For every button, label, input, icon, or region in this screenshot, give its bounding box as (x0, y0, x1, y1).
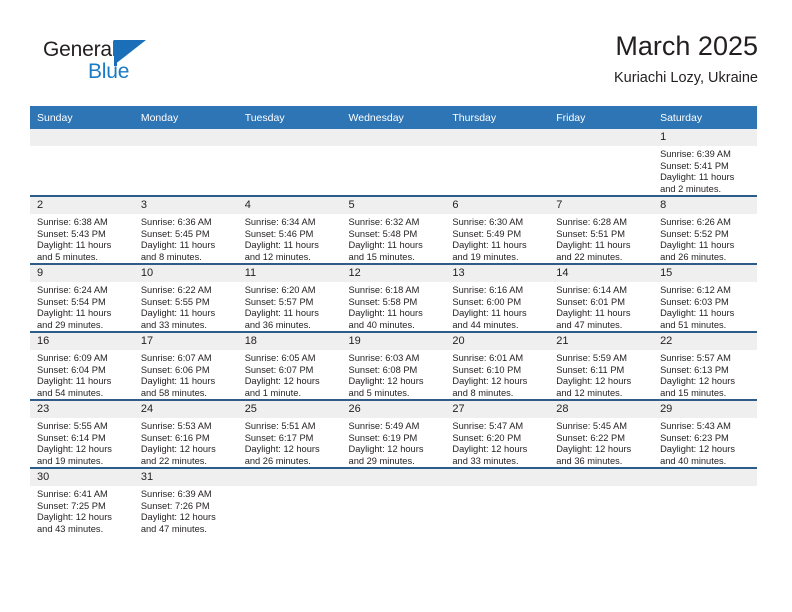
daylight-text: Daylight: 12 hours and 43 minutes. (37, 512, 129, 535)
day-details: Sunrise: 6:24 AMSunset: 5:54 PMDaylight:… (30, 282, 134, 331)
calendar-day-cell[interactable]: 8Sunrise: 6:26 AMSunset: 5:52 PMDaylight… (653, 196, 757, 264)
day-number: 28 (549, 401, 653, 418)
calendar-cell-empty (342, 129, 446, 196)
calendar-body: 1Sunrise: 6:39 AMSunset: 5:41 PMDaylight… (30, 129, 757, 535)
day-number (134, 129, 238, 146)
day-details: Sunrise: 6:05 AMSunset: 6:07 PMDaylight:… (238, 350, 342, 399)
day-cell-inner (549, 129, 653, 195)
calendar-day-cell[interactable]: 14Sunrise: 6:14 AMSunset: 6:01 PMDayligh… (549, 264, 653, 332)
sunset-text: Sunset: 6:07 PM (245, 365, 337, 377)
calendar-day-cell[interactable]: 2Sunrise: 6:38 AMSunset: 5:43 PMDaylight… (30, 196, 134, 264)
calendar-cell-empty (342, 468, 446, 535)
sunset-text: Sunset: 5:57 PM (245, 297, 337, 309)
calendar-cell-empty (549, 468, 653, 535)
day-number: 18 (238, 333, 342, 350)
page-header: General Blue March 2025 Kuriachi Lozy, U… (0, 0, 792, 100)
day-cell-inner: 31Sunrise: 6:39 AMSunset: 7:26 PMDayligh… (134, 469, 238, 535)
sunset-text: Sunset: 5:58 PM (349, 297, 441, 309)
day-number: 26 (342, 401, 446, 418)
day-number (549, 469, 653, 486)
calendar-day-cell[interactable]: 5Sunrise: 6:32 AMSunset: 5:48 PMDaylight… (342, 196, 446, 264)
day-details: Sunrise: 6:26 AMSunset: 5:52 PMDaylight:… (653, 214, 757, 263)
day-details: Sunrise: 6:28 AMSunset: 5:51 PMDaylight:… (549, 214, 653, 263)
day-cell-inner (342, 129, 446, 195)
sunrise-text: Sunrise: 5:55 AM (37, 421, 129, 433)
daylight-text: Daylight: 11 hours and 5 minutes. (37, 240, 129, 263)
title-block: March 2025 Kuriachi Lozy, Ukraine (614, 30, 758, 88)
sunrise-text: Sunrise: 6:26 AM (660, 217, 752, 229)
day-number (445, 129, 549, 146)
daylight-text: Daylight: 11 hours and 15 minutes. (349, 240, 441, 263)
sunset-text: Sunset: 6:22 PM (556, 433, 648, 445)
daylight-text: Daylight: 11 hours and 40 minutes. (349, 308, 441, 331)
day-details: Sunrise: 5:47 AMSunset: 6:20 PMDaylight:… (445, 418, 549, 467)
day-details: Sunrise: 6:18 AMSunset: 5:58 PMDaylight:… (342, 282, 446, 331)
daylight-text: Daylight: 12 hours and 15 minutes. (660, 376, 752, 399)
day-number: 5 (342, 197, 446, 214)
day-details: Sunrise: 6:20 AMSunset: 5:57 PMDaylight:… (238, 282, 342, 331)
daylight-text: Daylight: 11 hours and 58 minutes. (141, 376, 233, 399)
calendar-day-cell[interactable]: 31Sunrise: 6:39 AMSunset: 7:26 PMDayligh… (134, 468, 238, 535)
day-number (238, 469, 342, 486)
calendar-day-cell[interactable]: 16Sunrise: 6:09 AMSunset: 6:04 PMDayligh… (30, 332, 134, 400)
day-number: 23 (30, 401, 134, 418)
day-cell-inner: 2Sunrise: 6:38 AMSunset: 5:43 PMDaylight… (30, 197, 134, 263)
day-cell-inner: 4Sunrise: 6:34 AMSunset: 5:46 PMDaylight… (238, 197, 342, 263)
calendar-table: Sunday Monday Tuesday Wednesday Thursday… (30, 106, 757, 535)
calendar-cell-empty (653, 468, 757, 535)
day-details: Sunrise: 5:49 AMSunset: 6:19 PMDaylight:… (342, 418, 446, 467)
sunrise-text: Sunrise: 6:41 AM (37, 489, 129, 501)
day-details: Sunrise: 5:55 AMSunset: 6:14 PMDaylight:… (30, 418, 134, 467)
day-details: Sunrise: 6:07 AMSunset: 6:06 PMDaylight:… (134, 350, 238, 399)
day-details: Sunrise: 6:34 AMSunset: 5:46 PMDaylight:… (238, 214, 342, 263)
day-cell-inner: 29Sunrise: 5:43 AMSunset: 6:23 PMDayligh… (653, 401, 757, 467)
calendar-week-row: 30Sunrise: 6:41 AMSunset: 7:25 PMDayligh… (30, 468, 757, 535)
daylight-text: Daylight: 11 hours and 2 minutes. (660, 172, 752, 195)
calendar-week-row: 23Sunrise: 5:55 AMSunset: 6:14 PMDayligh… (30, 400, 757, 468)
day-cell-inner: 12Sunrise: 6:18 AMSunset: 5:58 PMDayligh… (342, 265, 446, 331)
day-cell-inner: 23Sunrise: 5:55 AMSunset: 6:14 PMDayligh… (30, 401, 134, 467)
sunrise-text: Sunrise: 6:14 AM (556, 285, 648, 297)
sunrise-text: Sunrise: 6:39 AM (660, 149, 752, 161)
sunset-text: Sunset: 5:48 PM (349, 229, 441, 241)
sunset-text: Sunset: 7:25 PM (37, 501, 129, 513)
day-cell-inner: 11Sunrise: 6:20 AMSunset: 5:57 PMDayligh… (238, 265, 342, 331)
calendar-week-row: 2Sunrise: 6:38 AMSunset: 5:43 PMDaylight… (30, 196, 757, 264)
day-cell-inner (445, 469, 549, 535)
day-cell-inner (342, 469, 446, 535)
day-cell-inner: 13Sunrise: 6:16 AMSunset: 6:00 PMDayligh… (445, 265, 549, 331)
sunset-text: Sunset: 6:10 PM (452, 365, 544, 377)
daylight-text: Daylight: 12 hours and 36 minutes. (556, 444, 648, 467)
sunset-text: Sunset: 6:20 PM (452, 433, 544, 445)
sunset-text: Sunset: 5:45 PM (141, 229, 233, 241)
day-cell-inner: 30Sunrise: 6:41 AMSunset: 7:25 PMDayligh… (30, 469, 134, 535)
calendar-day-cell[interactable]: 20Sunrise: 6:01 AMSunset: 6:10 PMDayligh… (445, 332, 549, 400)
day-cell-inner: 25Sunrise: 5:51 AMSunset: 6:17 PMDayligh… (238, 401, 342, 467)
page-subtitle: Kuriachi Lozy, Ukraine (614, 68, 758, 88)
sunset-text: Sunset: 6:03 PM (660, 297, 752, 309)
sunrise-text: Sunrise: 6:24 AM (37, 285, 129, 297)
calendar-week-row: 16Sunrise: 6:09 AMSunset: 6:04 PMDayligh… (30, 332, 757, 400)
calendar-day-cell[interactable]: 19Sunrise: 6:03 AMSunset: 6:08 PMDayligh… (342, 332, 446, 400)
day-number (30, 129, 134, 146)
day-number: 22 (653, 333, 757, 350)
day-cell-inner: 27Sunrise: 5:47 AMSunset: 6:20 PMDayligh… (445, 401, 549, 467)
day-number: 19 (342, 333, 446, 350)
sunrise-text: Sunrise: 6:36 AM (141, 217, 233, 229)
day-number: 29 (653, 401, 757, 418)
sunrise-text: Sunrise: 5:45 AM (556, 421, 648, 433)
calendar-day-cell[interactable]: 7Sunrise: 6:28 AMSunset: 5:51 PMDaylight… (549, 196, 653, 264)
calendar-cell-empty (445, 129, 549, 196)
day-number: 10 (134, 265, 238, 282)
day-cell-inner: 15Sunrise: 6:12 AMSunset: 6:03 PMDayligh… (653, 265, 757, 331)
daylight-text: Daylight: 12 hours and 22 minutes. (141, 444, 233, 467)
daylight-text: Daylight: 11 hours and 19 minutes. (452, 240, 544, 263)
day-cell-inner: 9Sunrise: 6:24 AMSunset: 5:54 PMDaylight… (30, 265, 134, 331)
calendar-day-cell[interactable]: 11Sunrise: 6:20 AMSunset: 5:57 PMDayligh… (238, 264, 342, 332)
day-cell-inner (549, 469, 653, 535)
sunrise-text: Sunrise: 5:47 AM (452, 421, 544, 433)
calendar-week-row: 1Sunrise: 6:39 AMSunset: 5:41 PMDaylight… (30, 129, 757, 196)
sunset-text: Sunset: 5:41 PM (660, 161, 752, 173)
day-number: 1 (653, 129, 757, 146)
calendar-day-cell[interactable]: 17Sunrise: 6:07 AMSunset: 6:06 PMDayligh… (134, 332, 238, 400)
day-number: 14 (549, 265, 653, 282)
general-blue-logo: General Blue (30, 36, 180, 92)
day-cell-inner: 26Sunrise: 5:49 AMSunset: 6:19 PMDayligh… (342, 401, 446, 467)
calendar-week-row: 9Sunrise: 6:24 AMSunset: 5:54 PMDaylight… (30, 264, 757, 332)
day-details: Sunrise: 6:22 AMSunset: 5:55 PMDaylight:… (134, 282, 238, 331)
calendar-cell-empty (549, 129, 653, 196)
sunset-text: Sunset: 5:52 PM (660, 229, 752, 241)
calendar-day-cell[interactable]: 29Sunrise: 5:43 AMSunset: 6:23 PMDayligh… (653, 400, 757, 468)
sunset-text: Sunset: 6:14 PM (37, 433, 129, 445)
sunrise-text: Sunrise: 6:39 AM (141, 489, 233, 501)
daylight-text: Daylight: 11 hours and 54 minutes. (37, 376, 129, 399)
day-number: 6 (445, 197, 549, 214)
calendar-day-cell[interactable]: 22Sunrise: 5:57 AMSunset: 6:13 PMDayligh… (653, 332, 757, 400)
weekday-header-sunday: Sunday (30, 106, 134, 129)
sunrise-text: Sunrise: 6:34 AM (245, 217, 337, 229)
daylight-text: Daylight: 12 hours and 12 minutes. (556, 376, 648, 399)
weekday-header-tuesday: Tuesday (238, 106, 342, 129)
sunset-text: Sunset: 6:01 PM (556, 297, 648, 309)
day-number (549, 129, 653, 146)
day-cell-inner: 21Sunrise: 5:59 AMSunset: 6:11 PMDayligh… (549, 333, 653, 399)
calendar-day-cell[interactable]: 4Sunrise: 6:34 AMSunset: 5:46 PMDaylight… (238, 196, 342, 264)
calendar-day-cell[interactable]: 13Sunrise: 6:16 AMSunset: 6:00 PMDayligh… (445, 264, 549, 332)
weekday-header-wednesday: Wednesday (342, 106, 446, 129)
daylight-text: Daylight: 11 hours and 33 minutes. (141, 308, 233, 331)
day-details: Sunrise: 6:32 AMSunset: 5:48 PMDaylight:… (342, 214, 446, 263)
day-cell-inner: 20Sunrise: 6:01 AMSunset: 6:10 PMDayligh… (445, 333, 549, 399)
daylight-text: Daylight: 11 hours and 8 minutes. (141, 240, 233, 263)
calendar-day-cell[interactable]: 23Sunrise: 5:55 AMSunset: 6:14 PMDayligh… (30, 400, 134, 468)
sunrise-text: Sunrise: 6:09 AM (37, 353, 129, 365)
day-cell-inner: 17Sunrise: 6:07 AMSunset: 6:06 PMDayligh… (134, 333, 238, 399)
sunset-text: Sunset: 6:06 PM (141, 365, 233, 377)
day-number: 12 (342, 265, 446, 282)
sunrise-text: Sunrise: 6:05 AM (245, 353, 337, 365)
day-number (342, 129, 446, 146)
sunset-text: Sunset: 6:00 PM (452, 297, 544, 309)
calendar-day-cell[interactable]: 12Sunrise: 6:18 AMSunset: 5:58 PMDayligh… (342, 264, 446, 332)
daylight-text: Daylight: 11 hours and 22 minutes. (556, 240, 648, 263)
day-cell-inner: 10Sunrise: 6:22 AMSunset: 5:55 PMDayligh… (134, 265, 238, 331)
calendar-page: General Blue March 2025 Kuriachi Lozy, U… (0, 0, 792, 612)
day-number: 21 (549, 333, 653, 350)
day-details: Sunrise: 6:38 AMSunset: 5:43 PMDaylight:… (30, 214, 134, 263)
sunrise-text: Sunrise: 6:18 AM (349, 285, 441, 297)
day-cell-inner: 18Sunrise: 6:05 AMSunset: 6:07 PMDayligh… (238, 333, 342, 399)
sunrise-text: Sunrise: 5:49 AM (349, 421, 441, 433)
sunrise-text: Sunrise: 5:43 AM (660, 421, 752, 433)
sunrise-text: Sunrise: 6:22 AM (141, 285, 233, 297)
day-number (342, 469, 446, 486)
weekday-header-monday: Monday (134, 106, 238, 129)
day-number: 8 (653, 197, 757, 214)
day-number: 31 (134, 469, 238, 486)
sunrise-text: Sunrise: 6:38 AM (37, 217, 129, 229)
day-details: Sunrise: 5:51 AMSunset: 6:17 PMDaylight:… (238, 418, 342, 467)
day-cell-inner: 24Sunrise: 5:53 AMSunset: 6:16 PMDayligh… (134, 401, 238, 467)
day-number: 7 (549, 197, 653, 214)
calendar-day-cell[interactable]: 3Sunrise: 6:36 AMSunset: 5:45 PMDaylight… (134, 196, 238, 264)
day-cell-inner: 14Sunrise: 6:14 AMSunset: 6:01 PMDayligh… (549, 265, 653, 331)
daylight-text: Daylight: 12 hours and 47 minutes. (141, 512, 233, 535)
sunset-text: Sunset: 5:51 PM (556, 229, 648, 241)
sunset-text: Sunset: 6:11 PM (556, 365, 648, 377)
calendar-header-row: Sunday Monday Tuesday Wednesday Thursday… (30, 106, 757, 129)
sunset-text: Sunset: 6:19 PM (349, 433, 441, 445)
day-cell-inner: 1Sunrise: 6:39 AMSunset: 5:41 PMDaylight… (653, 129, 757, 195)
day-cell-inner: 3Sunrise: 6:36 AMSunset: 5:45 PMDaylight… (134, 197, 238, 263)
calendar-cell-empty (30, 129, 134, 196)
calendar-cell-empty (238, 129, 342, 196)
day-details: Sunrise: 6:39 AMSunset: 7:26 PMDaylight:… (134, 486, 238, 535)
logo-text-blue: Blue (88, 60, 129, 84)
calendar-day-cell[interactable]: 6Sunrise: 6:30 AMSunset: 5:49 PMDaylight… (445, 196, 549, 264)
day-cell-inner: 28Sunrise: 5:45 AMSunset: 6:22 PMDayligh… (549, 401, 653, 467)
sunset-text: Sunset: 6:17 PM (245, 433, 337, 445)
sunset-text: Sunset: 6:13 PM (660, 365, 752, 377)
day-cell-inner (238, 469, 342, 535)
daylight-text: Daylight: 11 hours and 26 minutes. (660, 240, 752, 263)
day-number: 13 (445, 265, 549, 282)
sunset-text: Sunset: 7:26 PM (141, 501, 233, 513)
sunset-text: Sunset: 6:04 PM (37, 365, 129, 377)
daylight-text: Daylight: 11 hours and 29 minutes. (37, 308, 129, 331)
sunset-text: Sunset: 6:23 PM (660, 433, 752, 445)
calendar-day-cell[interactable]: 28Sunrise: 5:45 AMSunset: 6:22 PMDayligh… (549, 400, 653, 468)
day-details: Sunrise: 5:59 AMSunset: 6:11 PMDaylight:… (549, 350, 653, 399)
sunrise-text: Sunrise: 6:16 AM (452, 285, 544, 297)
daylight-text: Daylight: 11 hours and 51 minutes. (660, 308, 752, 331)
day-cell-inner: 16Sunrise: 6:09 AMSunset: 6:04 PMDayligh… (30, 333, 134, 399)
sunset-text: Sunset: 5:54 PM (37, 297, 129, 309)
day-cell-inner: 5Sunrise: 6:32 AMSunset: 5:48 PMDaylight… (342, 197, 446, 263)
page-title: March 2025 (614, 30, 758, 62)
calendar-day-cell[interactable]: 9Sunrise: 6:24 AMSunset: 5:54 PMDaylight… (30, 264, 134, 332)
calendar-cell-empty (134, 129, 238, 196)
day-details: Sunrise: 6:09 AMSunset: 6:04 PMDaylight:… (30, 350, 134, 399)
day-details: Sunrise: 6:12 AMSunset: 6:03 PMDaylight:… (653, 282, 757, 331)
calendar-day-cell[interactable]: 15Sunrise: 6:12 AMSunset: 6:03 PMDayligh… (653, 264, 757, 332)
calendar-day-cell[interactable]: 1Sunrise: 6:39 AMSunset: 5:41 PMDaylight… (653, 129, 757, 196)
calendar-cell-empty (445, 468, 549, 535)
sunrise-text: Sunrise: 6:30 AM (452, 217, 544, 229)
daylight-text: Daylight: 12 hours and 1 minute. (245, 376, 337, 399)
day-cell-inner: 22Sunrise: 5:57 AMSunset: 6:13 PMDayligh… (653, 333, 757, 399)
calendar-day-cell[interactable]: 30Sunrise: 6:41 AMSunset: 7:25 PMDayligh… (30, 468, 134, 535)
daylight-text: Daylight: 12 hours and 5 minutes. (349, 376, 441, 399)
day-details: Sunrise: 6:14 AMSunset: 6:01 PMDaylight:… (549, 282, 653, 331)
daylight-text: Daylight: 12 hours and 33 minutes. (452, 444, 544, 467)
daylight-text: Daylight: 11 hours and 36 minutes. (245, 308, 337, 331)
day-cell-inner (653, 469, 757, 535)
sunrise-text: Sunrise: 6:03 AM (349, 353, 441, 365)
daylight-text: Daylight: 12 hours and 26 minutes. (245, 444, 337, 467)
day-details: Sunrise: 6:39 AMSunset: 5:41 PMDaylight:… (653, 146, 757, 195)
day-number: 27 (445, 401, 549, 418)
day-cell-inner (30, 129, 134, 195)
day-number: 4 (238, 197, 342, 214)
sunrise-text: Sunrise: 5:51 AM (245, 421, 337, 433)
calendar-day-cell[interactable]: 24Sunrise: 5:53 AMSunset: 6:16 PMDayligh… (134, 400, 238, 468)
sunrise-text: Sunrise: 6:20 AM (245, 285, 337, 297)
day-number: 9 (30, 265, 134, 282)
sunrise-text: Sunrise: 6:32 AM (349, 217, 441, 229)
sunset-text: Sunset: 6:16 PM (141, 433, 233, 445)
sunset-text: Sunset: 5:49 PM (452, 229, 544, 241)
calendar-day-cell[interactable]: 10Sunrise: 6:22 AMSunset: 5:55 PMDayligh… (134, 264, 238, 332)
day-number: 2 (30, 197, 134, 214)
day-details: Sunrise: 6:41 AMSunset: 7:25 PMDaylight:… (30, 486, 134, 535)
day-number (445, 469, 549, 486)
day-number: 25 (238, 401, 342, 418)
day-cell-inner (445, 129, 549, 195)
day-details: Sunrise: 6:30 AMSunset: 5:49 PMDaylight:… (445, 214, 549, 263)
day-number: 30 (30, 469, 134, 486)
sunrise-text: Sunrise: 6:07 AM (141, 353, 233, 365)
sunrise-text: Sunrise: 6:12 AM (660, 285, 752, 297)
daylight-text: Daylight: 11 hours and 44 minutes. (452, 308, 544, 331)
day-cell-inner: 6Sunrise: 6:30 AMSunset: 5:49 PMDaylight… (445, 197, 549, 263)
sunrise-text: Sunrise: 6:28 AM (556, 217, 648, 229)
day-details: Sunrise: 5:43 AMSunset: 6:23 PMDaylight:… (653, 418, 757, 467)
calendar-day-cell[interactable]: 26Sunrise: 5:49 AMSunset: 6:19 PMDayligh… (342, 400, 446, 468)
day-number: 24 (134, 401, 238, 418)
day-details: Sunrise: 5:45 AMSunset: 6:22 PMDaylight:… (549, 418, 653, 467)
day-details: Sunrise: 6:01 AMSunset: 6:10 PMDaylight:… (445, 350, 549, 399)
sunset-text: Sunset: 5:55 PM (141, 297, 233, 309)
day-details: Sunrise: 6:03 AMSunset: 6:08 PMDaylight:… (342, 350, 446, 399)
day-number: 11 (238, 265, 342, 282)
weekday-header-thursday: Thursday (445, 106, 549, 129)
daylight-text: Daylight: 12 hours and 40 minutes. (660, 444, 752, 467)
sunrise-text: Sunrise: 5:59 AM (556, 353, 648, 365)
day-details: Sunrise: 6:16 AMSunset: 6:00 PMDaylight:… (445, 282, 549, 331)
day-cell-inner: 8Sunrise: 6:26 AMSunset: 5:52 PMDaylight… (653, 197, 757, 263)
daylight-text: Daylight: 11 hours and 12 minutes. (245, 240, 337, 263)
daylight-text: Daylight: 12 hours and 8 minutes. (452, 376, 544, 399)
calendar-day-cell[interactable]: 25Sunrise: 5:51 AMSunset: 6:17 PMDayligh… (238, 400, 342, 468)
day-number: 16 (30, 333, 134, 350)
day-details: Sunrise: 6:36 AMSunset: 5:45 PMDaylight:… (134, 214, 238, 263)
day-number: 3 (134, 197, 238, 214)
calendar-day-cell[interactable]: 21Sunrise: 5:59 AMSunset: 6:11 PMDayligh… (549, 332, 653, 400)
day-number (238, 129, 342, 146)
daylight-text: Daylight: 12 hours and 29 minutes. (349, 444, 441, 467)
sunrise-text: Sunrise: 5:57 AM (660, 353, 752, 365)
weekday-header-friday: Friday (549, 106, 653, 129)
sunrise-text: Sunrise: 6:01 AM (452, 353, 544, 365)
day-details: Sunrise: 5:57 AMSunset: 6:13 PMDaylight:… (653, 350, 757, 399)
day-cell-inner: 19Sunrise: 6:03 AMSunset: 6:08 PMDayligh… (342, 333, 446, 399)
day-cell-inner (238, 129, 342, 195)
calendar-cell-empty (238, 468, 342, 535)
day-number: 15 (653, 265, 757, 282)
sunset-text: Sunset: 5:46 PM (245, 229, 337, 241)
sunrise-text: Sunrise: 5:53 AM (141, 421, 233, 433)
sunset-text: Sunset: 5:43 PM (37, 229, 129, 241)
daylight-text: Daylight: 11 hours and 47 minutes. (556, 308, 648, 331)
day-number: 20 (445, 333, 549, 350)
calendar-day-cell[interactable]: 27Sunrise: 5:47 AMSunset: 6:20 PMDayligh… (445, 400, 549, 468)
day-details: Sunrise: 5:53 AMSunset: 6:16 PMDaylight:… (134, 418, 238, 467)
day-cell-inner: 7Sunrise: 6:28 AMSunset: 5:51 PMDaylight… (549, 197, 653, 263)
day-cell-inner (134, 129, 238, 195)
day-number: 17 (134, 333, 238, 350)
calendar-day-cell[interactable]: 18Sunrise: 6:05 AMSunset: 6:07 PMDayligh… (238, 332, 342, 400)
sunset-text: Sunset: 6:08 PM (349, 365, 441, 377)
weekday-header-saturday: Saturday (653, 106, 757, 129)
logo-text-general: General (43, 38, 116, 62)
day-number (653, 469, 757, 486)
daylight-text: Daylight: 12 hours and 19 minutes. (37, 444, 129, 467)
